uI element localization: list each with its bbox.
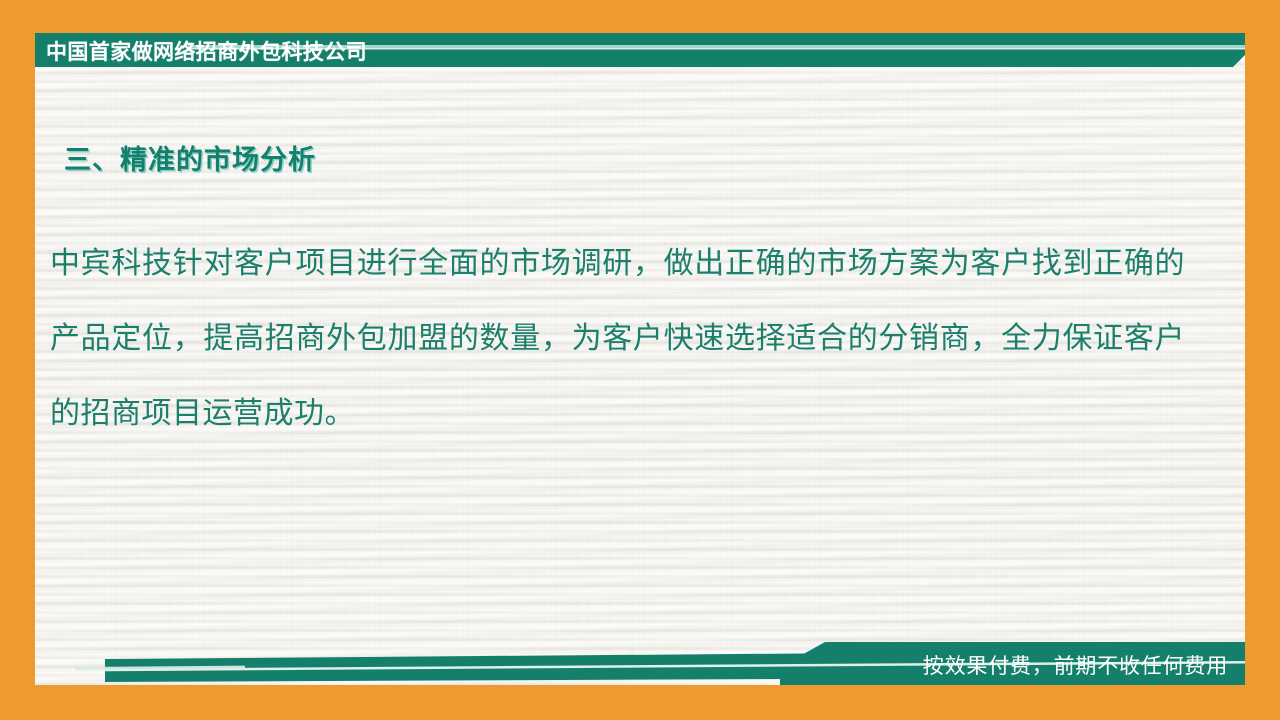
page-title: 三、精准的市场分析 [64, 138, 316, 177]
body-paragraph: 中宾科技针对客户项目进行全面的市场调研，做出正确的市场方案为客户找到正确的产品定… [50, 226, 1185, 451]
footer-tagline: 按效果付费，前期不收任何费用 [923, 648, 1228, 682]
slide-canvas: 中国首家做网络招商外包科技公司 三、精准的市场分析 中宾科技针对客户项目进行全面… [0, 0, 1280, 720]
header-title: 中国首家做网络招商外包科技公司 [46, 36, 367, 66]
